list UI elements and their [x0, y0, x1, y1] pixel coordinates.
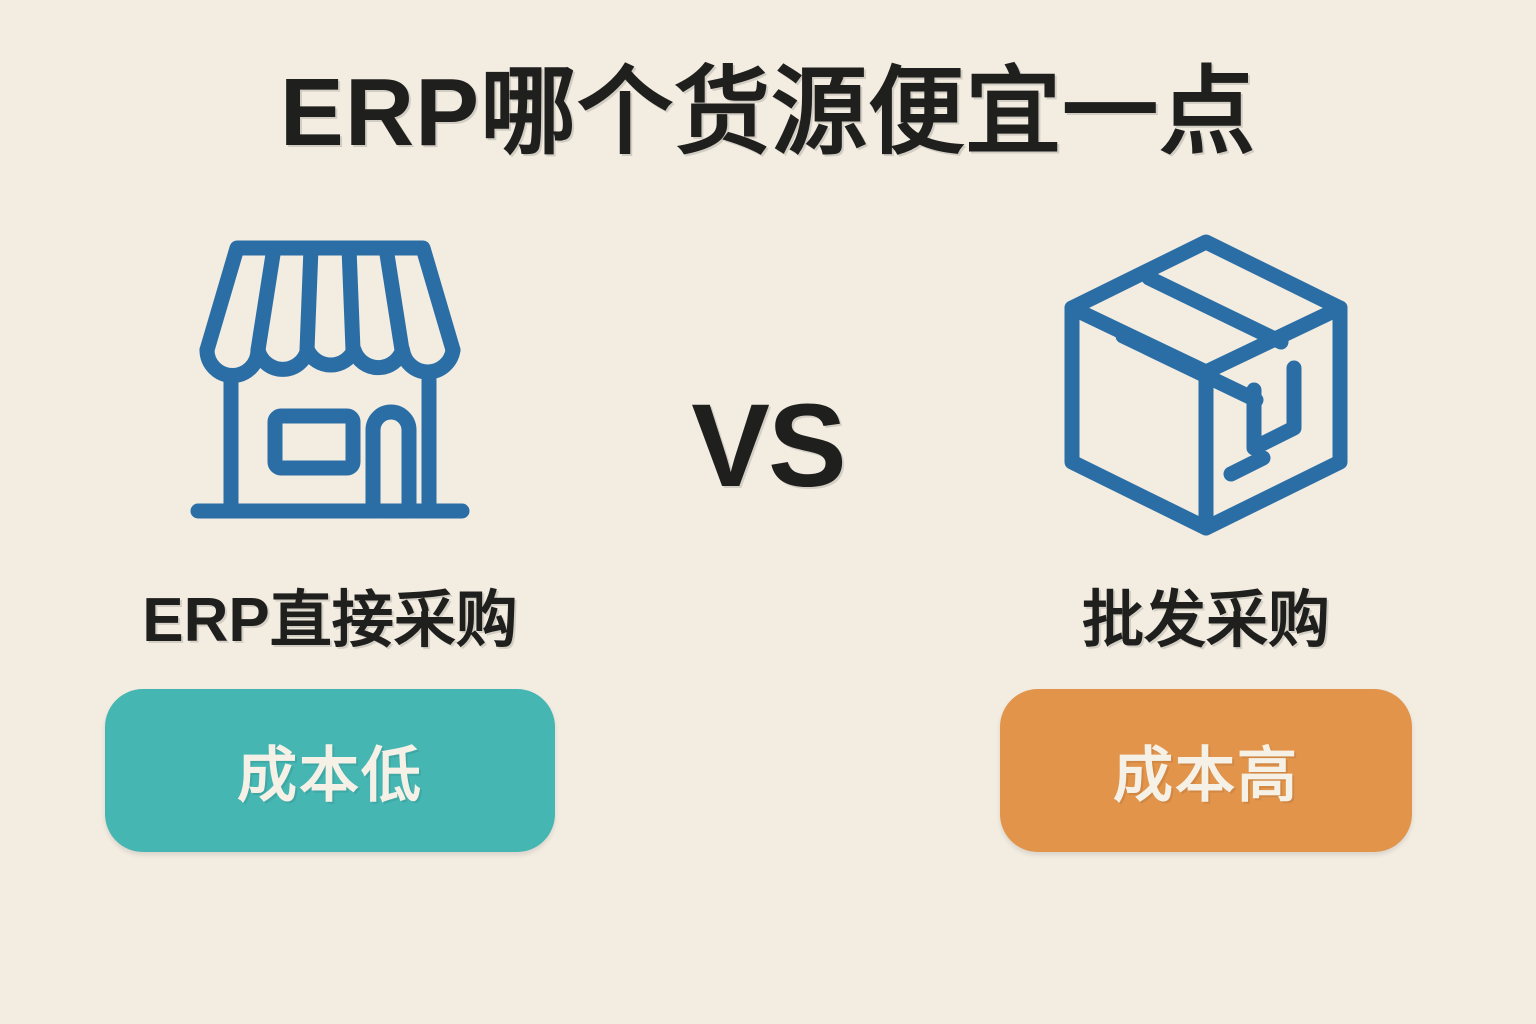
versus-label: VS [0, 378, 1536, 514]
status-badge-cost-low[interactable]: 成本低 [105, 689, 555, 852]
comparison-option-left: ERP直接采购 成本低 [50, 215, 610, 915]
option-label-right: 批发采购 [926, 569, 1486, 659]
option-label-left: ERP直接采购 [50, 569, 610, 659]
status-badge-cost-high[interactable]: 成本高 [1000, 689, 1412, 852]
comparison-option-right: 批发采购 成本高 [926, 215, 1486, 915]
page-title: ERP哪个货源便宜一点 [0, 56, 1536, 169]
badge-row-right: 成本高 [926, 689, 1486, 852]
poster-canvas: ERP哪个货源便宜一点 [0, 0, 1536, 1024]
badge-row-left: 成本低 [50, 689, 610, 852]
